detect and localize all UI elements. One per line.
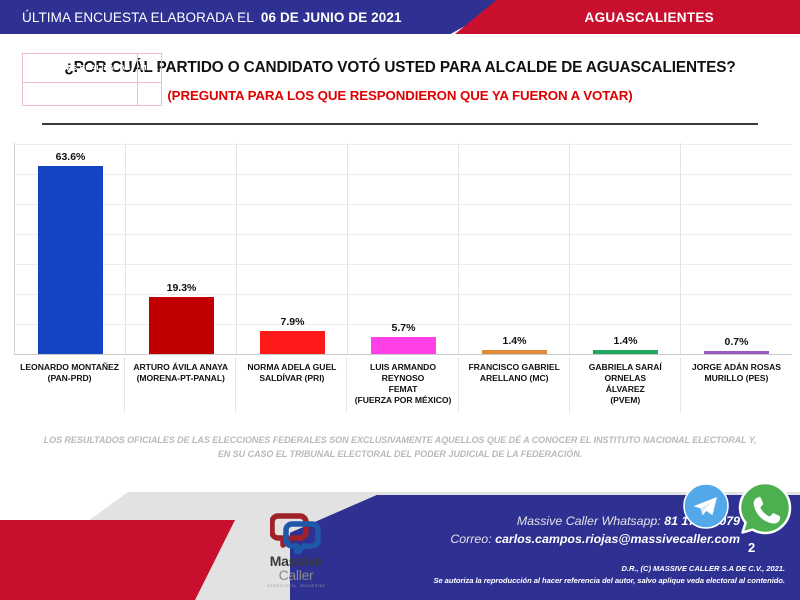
category-label-line: NORMA ADELA GUEL (239, 362, 344, 373)
bar-rect[interactable] (593, 350, 658, 354)
bar-column: 7.9% (237, 143, 348, 354)
category-label: FRANCISCO GABRIELARELLANO (MC) (459, 357, 570, 413)
top-banner: ÚLTIMA ENCUESTA ELABORADA EL 06 DE JUNIO… (0, 0, 800, 34)
whatsapp-label: Massive Caller Whatsapp: (517, 514, 661, 528)
stat-header-me: M. E. (138, 54, 162, 83)
email-line: Correo: carlos.campos.riojas@massivecall… (420, 531, 740, 549)
category-label-line: (PVEM) (573, 395, 678, 406)
copyright-line-1: D.R., (C) MASSIVE CALLER S.A DE C.V., 20… (20, 563, 785, 575)
banner-date-value: 06 DE JUNIO DE 2021 (261, 10, 402, 25)
category-label-line: ARELLANO (MC) (462, 373, 567, 384)
bar-rect[interactable] (371, 337, 436, 354)
bar-column: 1.4% (459, 143, 570, 354)
legal-disclaimer: LOS RESULTADOS OFICIALES DE LAS ELECCION… (40, 434, 760, 462)
bar-value-label: 0.7% (725, 336, 749, 348)
bar-column: 5.7% (348, 143, 459, 354)
category-label-line: ARTURO ÁVILA ANAYA (128, 362, 233, 373)
bar-value-label: 19.3% (167, 282, 197, 294)
bar-value-label: 1.4% (614, 335, 638, 347)
copyright-block: D.R., (C) MASSIVE CALLER S.A DE C.V., 20… (20, 563, 785, 587)
speech-bubbles-icon (270, 512, 322, 554)
bar-rect[interactable] (482, 350, 547, 354)
banner-date: ÚLTIMA ENCUESTA ELABORADA EL 06 DE JUNIO… (22, 0, 402, 34)
stat-value-surveys: 3000 (23, 83, 138, 106)
category-label-line: FRANCISCO GABRIEL (462, 362, 567, 373)
banner-date-label: ÚLTIMA ENCUESTA ELABORADA EL (22, 10, 254, 25)
category-label-line: JORGE ADÁN ROSAS (684, 362, 789, 373)
email-address[interactable]: carlos.campos.riojas@massivecaller.com (495, 532, 740, 546)
plot-area: 63.6%19.3%7.9%5.7%1.4%1.4%0.7% (14, 143, 792, 355)
title-divider (42, 123, 758, 125)
stat-value-me (138, 83, 162, 106)
category-label: NORMA ADELA GUELSALDÍVAR (PRI) (236, 357, 347, 413)
bar-rect[interactable] (704, 351, 769, 354)
category-label: JORGE ADÁN ROSASMURILLO (PES) (681, 357, 792, 413)
category-label-line: (MORENA-PT-PANAL) (128, 373, 233, 384)
category-axis: LEONARDO MONTAÑEZ(PAN-PRD)ARTURO ÁVILA A… (14, 357, 792, 413)
category-label-line: (FUERZA POR MÉXICO) (350, 395, 455, 406)
page-number: 2 (748, 540, 755, 555)
category-label-line: GABRIELA SARAÍ ORNELAS (573, 362, 678, 384)
table-row: 3000 (23, 83, 162, 106)
category-label-line: LEONARDO MONTAÑEZ (17, 362, 122, 373)
category-label-line: (PAN-PRD) (17, 373, 122, 384)
category-label: GABRIELA SARAÍ ORNELASÁLVAREZ(PVEM) (570, 357, 681, 413)
bar-value-label: 7.9% (281, 316, 305, 328)
bar-column: 0.7% (681, 143, 792, 354)
stat-header-surveys: ENCUESTAS REALIZADAS (23, 54, 138, 83)
telegram-icon[interactable] (683, 483, 729, 529)
category-label-line: FEMAT (350, 384, 455, 395)
category-label: LEONARDO MONTAÑEZ(PAN-PRD) (14, 357, 125, 413)
footer-red-shape (0, 520, 235, 600)
disclaimer-line-1: LOS RESULTADOS OFICIALES DE LAS ELECCION… (40, 434, 760, 448)
whatsapp-icon[interactable] (737, 480, 793, 536)
bar-value-label: 1.4% (503, 335, 527, 347)
slide-root: ÚLTIMA ENCUESTA ELABORADA EL 06 DE JUNIO… (0, 0, 800, 600)
bar-chart: 63.6%19.3%7.9%5.7%1.4%1.4%0.7% LEONARDO … (0, 143, 800, 413)
category-label-line: LUIS ARMANDO REYNOSO (350, 362, 455, 384)
bar-column: 63.6% (15, 143, 126, 354)
bar-rect[interactable] (38, 166, 103, 354)
bar-series: 63.6%19.3%7.9%5.7%1.4%1.4%0.7% (15, 143, 792, 354)
category-label-line: ÁLVAREZ (573, 384, 678, 395)
category-label: LUIS ARMANDO REYNOSOFEMAT(FUERZA POR MÉX… (347, 357, 458, 413)
bar-rect[interactable] (260, 331, 325, 354)
table-row: ENCUESTAS REALIZADAS M. E. (23, 54, 162, 83)
bar-value-label: 63.6% (56, 151, 86, 163)
axis-baseline (15, 354, 792, 355)
bar-column: 19.3% (126, 143, 237, 354)
disclaimer-line-2: EN SU CASO EL TRIBUNAL ELECTORAL DEL POD… (40, 448, 760, 462)
bar-column: 1.4% (570, 143, 681, 354)
bar-value-label: 5.7% (392, 322, 416, 334)
survey-stats-table: ENCUESTAS REALIZADAS M. E. 3000 (22, 53, 162, 106)
category-label: ARTURO ÁVILA ANAYA(MORENA-PT-PANAL) (125, 357, 236, 413)
copyright-line-2: Se autoriza la reproducción al hacer ref… (20, 575, 785, 587)
banner-state-label: AGUASCALIENTES (585, 0, 714, 34)
category-label-line: SALDÍVAR (PRI) (239, 373, 344, 384)
category-label-line: MURILLO (PES) (684, 373, 789, 384)
email-label: Correo: (450, 532, 491, 546)
bar-rect[interactable] (149, 297, 214, 354)
